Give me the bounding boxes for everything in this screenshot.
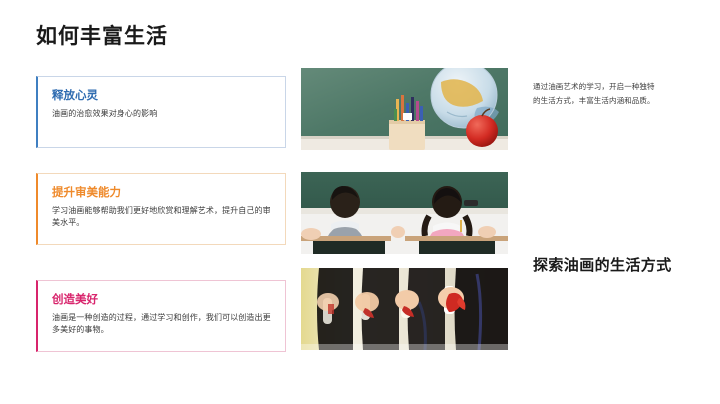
graduates-diplomas-photo [301,268,508,350]
feature-card-3[interactable]: 创造美好 油画是一种创造的过程，通过学习和创作，我们可以创造出更多美好的事物。 [36,280,286,352]
feature-card-1-title: 释放心灵 [52,89,273,103]
feature-card-3-body: 油画是一种创造的过程，通过学习和创作，我们可以创造出更多美好的事物。 [52,312,273,336]
slide: 如何丰富生活 释放心灵 油画的治愈效果对身心的影响 提升审美能力 学习油画能够帮… [0,0,720,404]
side-description-text: 通过油画艺术的学习，开启一种独特的生活方式，丰富生活内涵和品质。 [533,80,661,108]
feature-card-2[interactable]: 提升审美能力 学习油画能够帮助我们更好地欣赏和理解艺术，提升自己的审美水平。 [36,173,286,245]
feature-card-1[interactable]: 释放心灵 油画的治愈效果对身心的影响 [36,76,286,148]
classroom-chalkboard-globe-illustration [301,68,508,150]
students-in-classroom-illustration [301,172,508,254]
feature-card-2-title: 提升审美能力 [52,186,273,200]
feature-card-3-title: 创造美好 [52,293,273,307]
feature-card-2-body: 学习油画能够帮助我们更好地欣赏和理解艺术，提升自己的审美水平。 [52,205,273,229]
students-in-classroom-photo [301,172,508,254]
graduates-diplomas-illustration [301,268,508,350]
classroom-chalkboard-globe-photo [301,68,508,150]
page-title: 如何丰富生活 [36,24,168,49]
side-heading: 探索油画的生活方式 [533,256,683,276]
feature-card-1-body: 油画的治愈效果对身心的影响 [52,108,273,120]
